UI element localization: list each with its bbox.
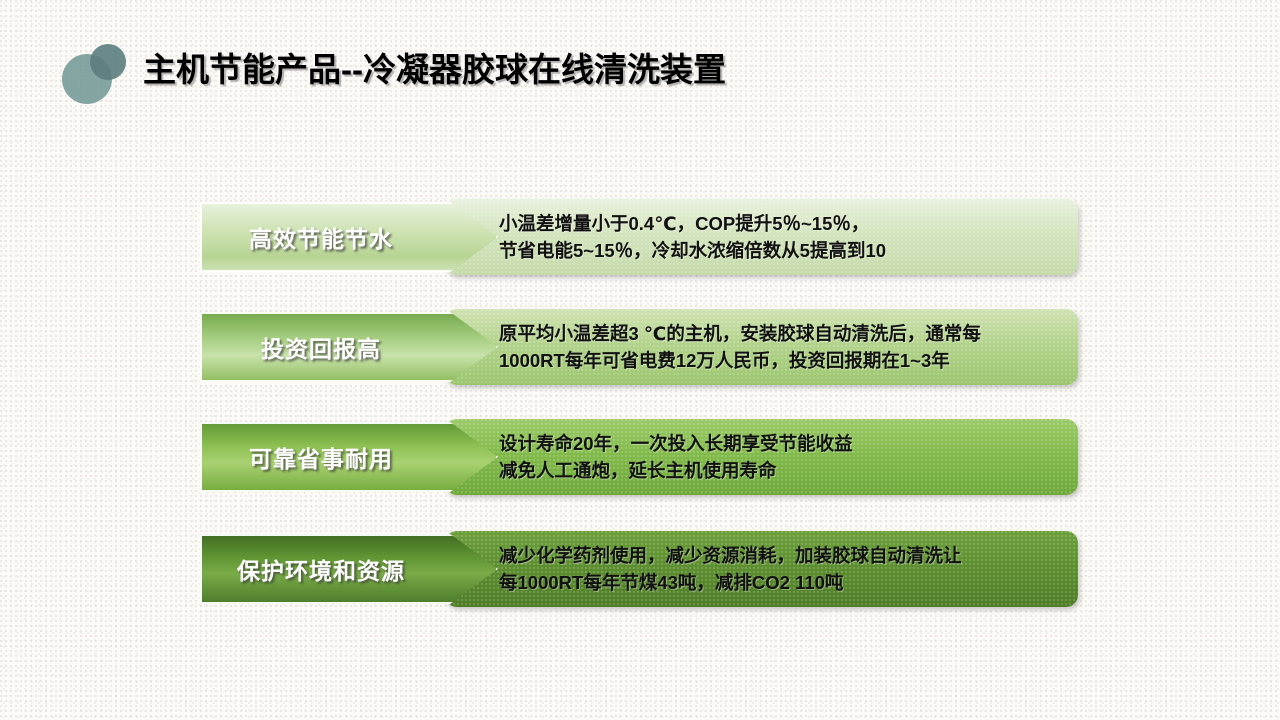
feature-row: 原平均小温差超3 ℃的主机，安装胶球自动清洗后，通常每 1000RT每年可省电费… bbox=[200, 309, 1078, 385]
feature-description-text: 设计寿命20年，一次投入长期享受节能收益 减免人工通炮，延长主机使用寿命 bbox=[499, 430, 1064, 484]
feature-tag[interactable]: 保护环境和资源 bbox=[200, 534, 498, 604]
slide-canvas: 主机节能产品--冷凝器胶球在线清洗装置 小温差增量小于0.4℃，COP提升5％~… bbox=[0, 0, 1280, 720]
feature-tag[interactable]: 高效节能节水 bbox=[200, 202, 498, 272]
feature-tag[interactable]: 可靠省事耐用 bbox=[200, 422, 498, 492]
feature-row: 设计寿命20年，一次投入长期享受节能收益 减免人工通炮，延长主机使用寿命 可靠省… bbox=[200, 419, 1078, 495]
circle-small bbox=[90, 44, 126, 80]
feature-description-panel: 小温差增量小于0.4℃，COP提升5％~15％， 节省电能5~15％，冷却水浓缩… bbox=[445, 199, 1078, 275]
feature-description-text: 原平均小温差超3 ℃的主机，安装胶球自动清洗后，通常每 1000RT每年可省电费… bbox=[499, 320, 1064, 374]
feature-description-text: 小温差增量小于0.4℃，COP提升5％~15％， 节省电能5~15％，冷却水浓缩… bbox=[499, 210, 1064, 264]
feature-row: 减少化学药剂使用，减少资源消耗，加装胶球自动清洗让 每1000RT每年节煤43吨… bbox=[200, 531, 1078, 607]
feature-tag-label: 投资回报高 bbox=[200, 312, 442, 382]
page-title: 主机节能产品--冷凝器胶球在线清洗装置 bbox=[143, 38, 726, 102]
feature-tag[interactable]: 投资回报高 bbox=[200, 312, 498, 382]
slide-title-bar: 主机节能产品--冷凝器胶球在线清洗装置 bbox=[0, 38, 1280, 112]
feature-description-panel: 减少化学药剂使用，减少资源消耗，加装胶球自动清洗让 每1000RT每年节煤43吨… bbox=[445, 531, 1078, 607]
feature-description-panel: 设计寿命20年，一次投入长期享受节能收益 减免人工通炮，延长主机使用寿命 bbox=[445, 419, 1078, 495]
feature-row: 小温差增量小于0.4℃，COP提升5％~15％， 节省电能5~15％，冷却水浓缩… bbox=[200, 199, 1078, 275]
feature-tag-label: 高效节能节水 bbox=[200, 202, 442, 272]
two-circles-icon bbox=[62, 44, 138, 108]
feature-tag-label: 保护环境和资源 bbox=[200, 534, 442, 604]
feature-description-panel: 原平均小温差超3 ℃的主机，安装胶球自动清洗后，通常每 1000RT每年可省电费… bbox=[445, 309, 1078, 385]
feature-tag-label: 可靠省事耐用 bbox=[200, 422, 442, 492]
feature-description-text: 减少化学药剂使用，减少资源消耗，加装胶球自动清洗让 每1000RT每年节煤43吨… bbox=[499, 542, 1064, 596]
